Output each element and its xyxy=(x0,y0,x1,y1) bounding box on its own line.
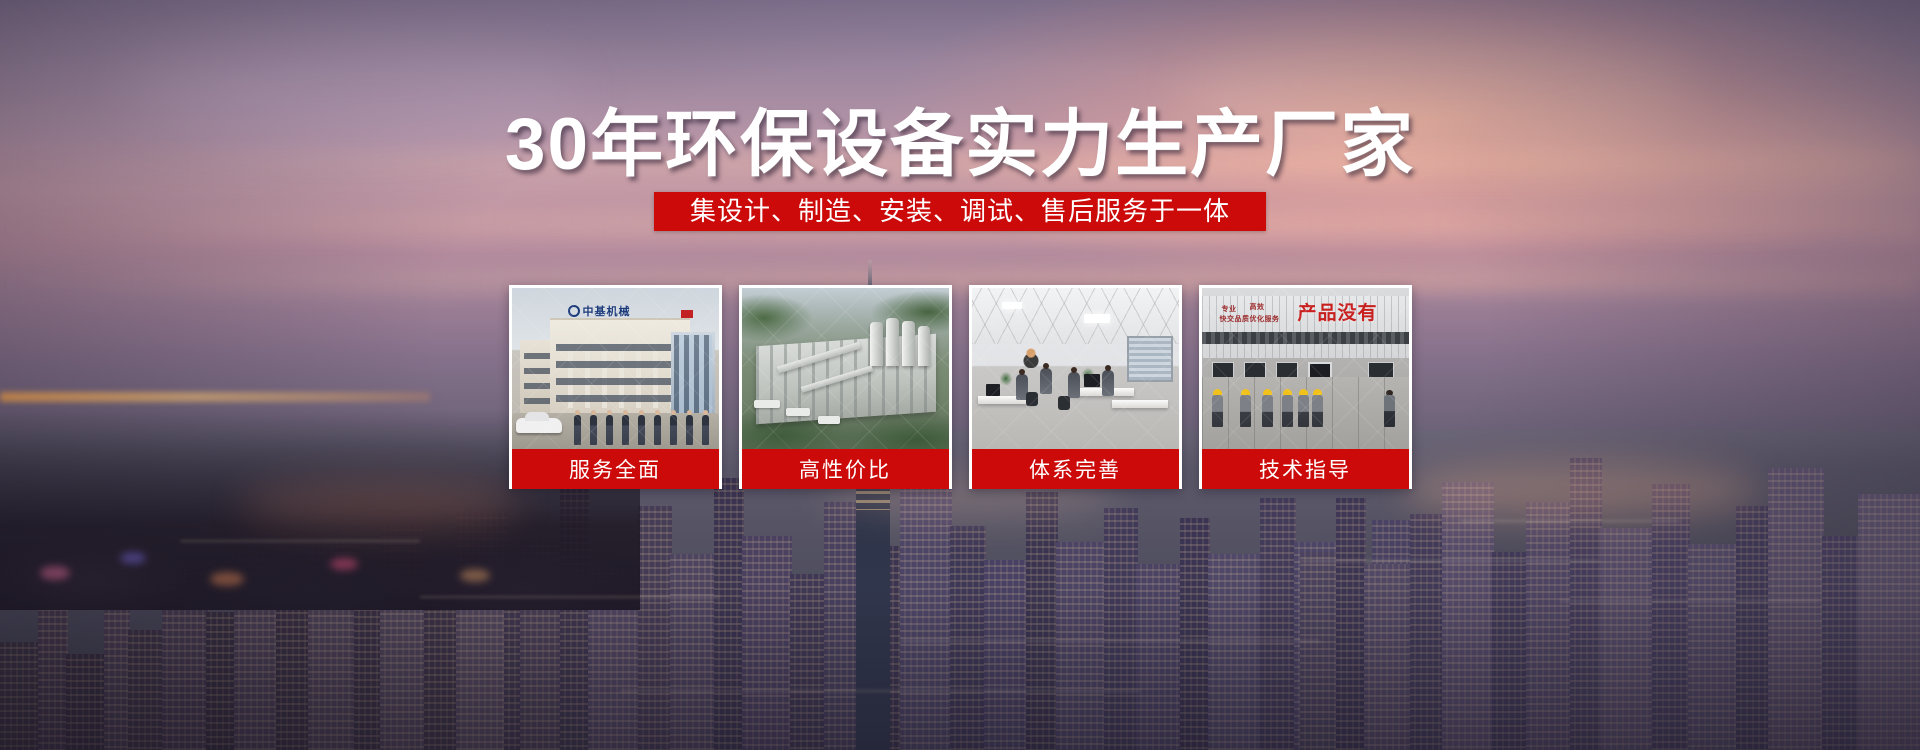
card-photo-industrial-plant xyxy=(742,288,949,449)
feature-card[interactable]: 中基机械 服务全面 xyxy=(509,285,722,489)
card-label: 服务全面 xyxy=(512,449,719,489)
feature-card[interactable]: 体系完善 xyxy=(969,285,1182,489)
wall-art xyxy=(1016,344,1046,368)
wall-slogan-small: 优化服务 xyxy=(1250,314,1280,324)
feature-card-list: 中基机械 服务全面 xyxy=(0,285,1920,489)
building-sign: 中基机械 xyxy=(568,303,664,319)
subtitle-row: 集设计、制造、安装、调试、售后服务于一体 xyxy=(0,192,1920,231)
wall-slogan: 产品没有 xyxy=(1298,298,1378,325)
card-label: 高性价比 xyxy=(742,449,949,489)
wall-slogan-small: 高效 xyxy=(1250,302,1265,312)
card-label: 技术指导 xyxy=(1202,449,1409,489)
flag-icon xyxy=(681,310,693,318)
car xyxy=(516,418,562,433)
card-photo-office-interior xyxy=(972,288,1179,449)
subtitle-badge: 集设计、制造、安装、调试、售后服务于一体 xyxy=(654,192,1266,231)
feature-card[interactable]: 高性价比 xyxy=(739,285,952,489)
card-label: 体系完善 xyxy=(972,449,1179,489)
card-photo-office-building: 中基机械 xyxy=(512,288,719,449)
banner-content: 30年环保设备实力生产厂家 集设计、制造、安装、调试、售后服务于一体 中基机械 xyxy=(0,0,1920,750)
feature-card[interactable]: 产品没有 专业 高效 快交品质 优化服务 xyxy=(1199,285,1412,489)
wall-slogan-small: 快交品质 xyxy=(1220,314,1250,324)
hero-banner: 30年环保设备实力生产厂家 集设计、制造、安装、调试、售后服务于一体 中基机械 xyxy=(0,0,1920,750)
wall-slogan-small: 专业 xyxy=(1222,304,1237,314)
company-logo-icon xyxy=(568,305,580,317)
card-photo-factory-workers: 产品没有 专业 高效 快交品质 优化服务 xyxy=(1202,288,1409,449)
building-sign-text: 中基机械 xyxy=(583,303,631,319)
page-title: 30年环保设备实力生产厂家 xyxy=(0,97,1920,193)
